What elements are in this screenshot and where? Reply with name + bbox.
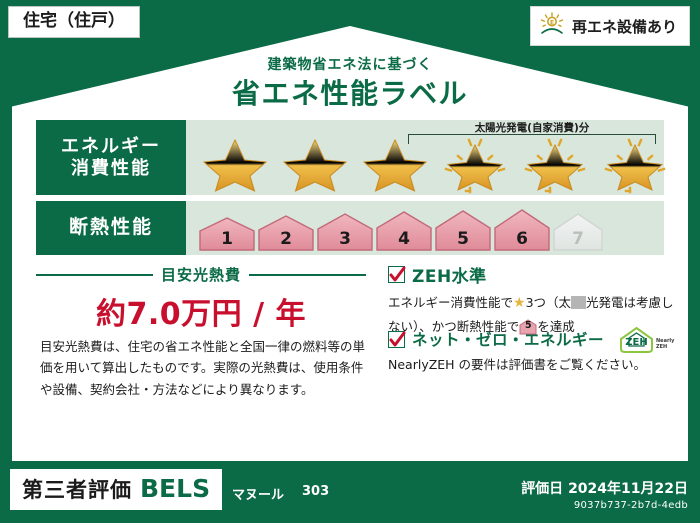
renewable-energy-badge: E 再エネ設備あり (530, 6, 690, 46)
house-type-tag: 住宅（住戸） (8, 6, 140, 38)
star-rating (196, 136, 656, 193)
insulation-grade-number: 1 (198, 229, 256, 249)
insulation-grade-number: 6 (493, 229, 551, 249)
zeh-logo-icon: ZEH Nearly ZEH (618, 324, 676, 354)
star-solar (436, 136, 514, 194)
zeh-body-part2: 3つ（太 (526, 295, 571, 310)
bels-label-ja: 第三者評価 (22, 474, 132, 504)
net-zero-energy-checkbox[interactable] (388, 331, 405, 348)
evaluation-date-value: 2024年11月22日 (568, 481, 688, 497)
insulation-grade-number: 2 (257, 229, 315, 249)
net-zero-energy-heading: ネット・ゼロ・エネルギー ZEH Nearly ZEH (388, 328, 678, 350)
sun-icon: E (539, 12, 565, 40)
insulation-grade-number: 5 (434, 229, 492, 249)
evaluation-uid: 9037b737-2b7d-4edb (521, 500, 688, 511)
label-title: 省エネ性能ラベル (20, 72, 680, 112)
renewable-badge-label: 再エネ設備あり (572, 16, 677, 37)
insulation-grade-6: 6 (493, 207, 551, 253)
evaluation-date-label: 評価日 (521, 481, 563, 497)
zeh-standard-checkbox[interactable] (388, 266, 405, 283)
insulation-grade-2: 2 (257, 213, 315, 253)
property-name: マヌール (232, 484, 284, 503)
zeh-standard-title: ZEH水準 (412, 262, 487, 287)
redacted-character (571, 296, 586, 309)
insulation-grade-1: 1 (198, 215, 256, 253)
insulation-grade-scale: 1 2 3 (198, 203, 604, 253)
star-solar (516, 136, 594, 194)
star-solar (596, 136, 674, 194)
insulation-grade-number: 7 (552, 229, 604, 249)
energy-performance-row: エネルギー 消費性能 太陽光発電(自家消費)分 (36, 120, 664, 195)
utility-cost-note: 目安光熱費は、住宅の省エネ性能と全国一律の燃料等の単価を用いて算出したものです。… (40, 336, 366, 400)
svg-text:ZEH: ZEH (625, 337, 647, 348)
star-solid (356, 136, 434, 194)
net-zero-energy-title: ネット・ゼロ・エネルギー (412, 328, 604, 350)
evaluation-meta: 評価日 2024年11月22日 9037b737-2b7d-4edb (521, 478, 688, 511)
rule-right (249, 274, 366, 276)
svg-text:E: E (550, 20, 554, 27)
property-number: 303 (302, 484, 329, 503)
rule-left (36, 274, 153, 276)
zeh-body-part1: エネルギー消費性能で (388, 295, 513, 310)
insulation-grade-4: 4 (375, 209, 433, 253)
insulation-grades-area: 1 2 3 (186, 201, 664, 255)
net-zero-energy-body: NearlyZEH の要件は評価書をご覧ください。 (388, 354, 678, 376)
star-solid (276, 136, 354, 194)
insulation-grade-number: 3 (316, 229, 374, 249)
svg-text:ZEH: ZEH (656, 344, 667, 350)
inline-star-icon: ★ (513, 295, 526, 311)
insulation-performance-row: 断熱性能 (36, 201, 664, 255)
utility-cost-value: 約7.0万円 / 年 (36, 289, 366, 333)
utility-cost-heading-text: 目安光熱費 (161, 264, 241, 285)
zeh-standard-heading: ZEH水準 (388, 262, 678, 287)
star-solid (196, 136, 274, 194)
label-subtitle: 建築物省エネ法に基づく (20, 54, 680, 74)
insulation-grade-3: 3 (316, 211, 374, 253)
energy-stars-area: 太陽光発電(自家消費)分 (186, 120, 664, 195)
insulation-grade-7: 7 (552, 210, 604, 253)
bels-label-en: BELS (140, 474, 210, 503)
utility-cost-block: 目安光熱費 約7.0万円 / 年 (36, 264, 366, 333)
net-zero-energy-block: ネット・ゼロ・エネルギー ZEH Nearly ZEH NearlyZEH の要… (388, 328, 678, 376)
solar-bracket-label: 太陽光発電(自家消費)分 (408, 120, 656, 135)
label-content: 建築物省エネ法に基づく 省エネ性能ラベル エネルギー 消費性能 太陽光発電(自家… (20, 40, 680, 455)
property-identity: マヌール 303 (232, 484, 329, 503)
bels-certification-badge: 第三者評価 BELS (10, 469, 222, 510)
evaluation-date: 評価日 2024年11月22日 (521, 478, 688, 498)
insulation-performance-label: 断熱性能 (36, 201, 186, 255)
insulation-grade-number: 4 (375, 229, 433, 249)
utility-cost-heading: 目安光熱費 (36, 264, 366, 285)
insulation-grade-5: 5 (434, 208, 492, 253)
energy-performance-label: 住宅（住戸） E 再エネ設備あり 建築物省エネ法に基づく (0, 0, 700, 523)
energy-performance-label: エネルギー 消費性能 (36, 120, 186, 195)
